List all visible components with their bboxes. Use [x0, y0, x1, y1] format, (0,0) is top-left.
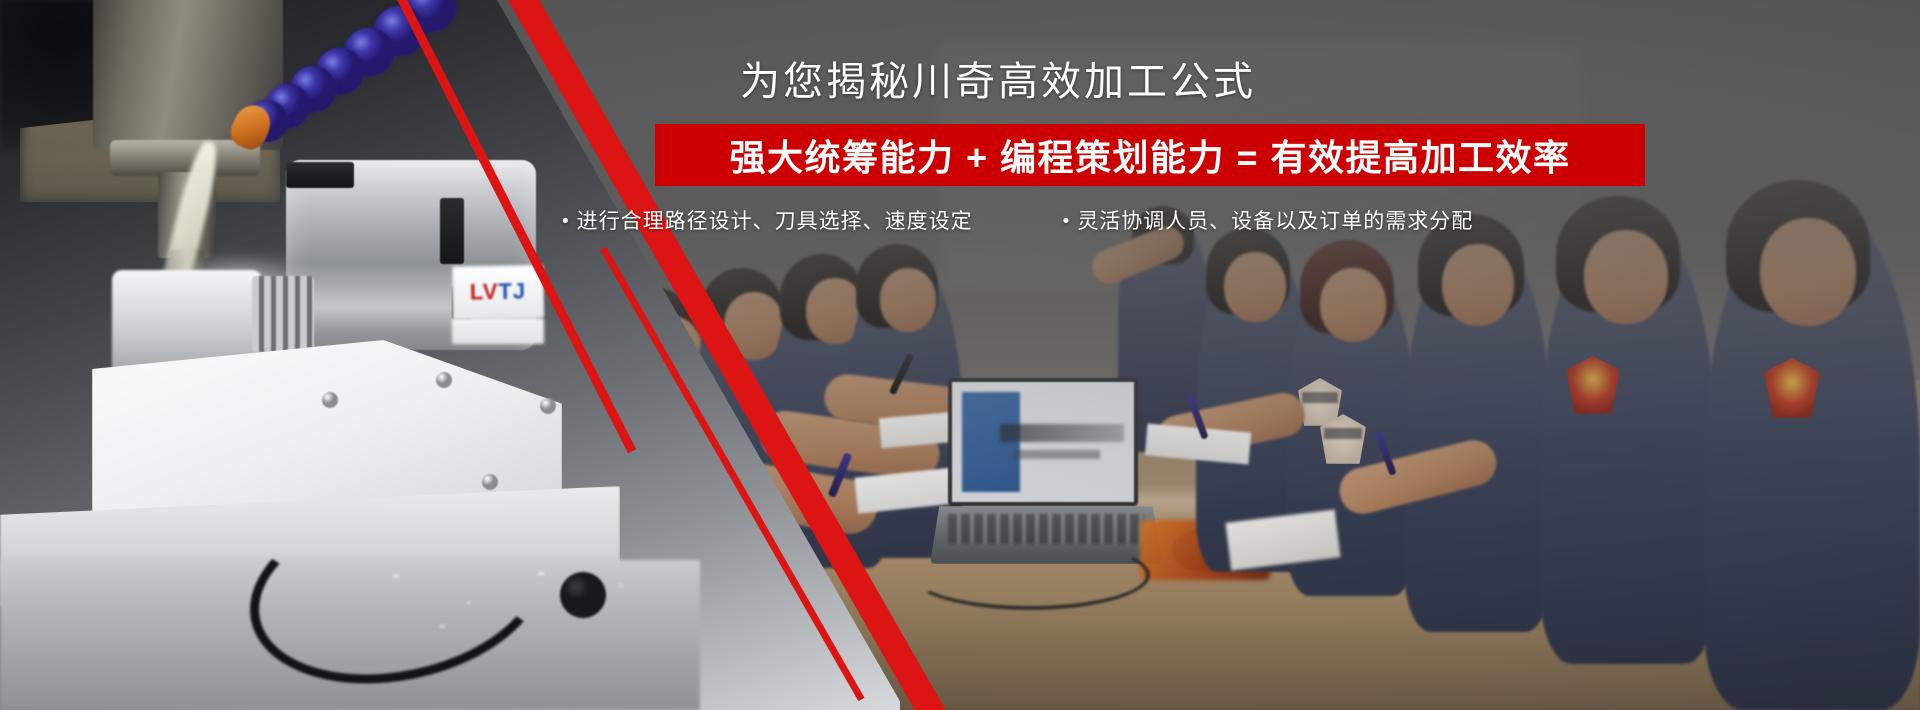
bullet-item-2: •灵活协调人员、设备以及订单的需求分配	[1063, 205, 1474, 235]
machine-brand-label: LVTJ	[452, 264, 545, 320]
formula-text: 强大统筹能力 + 编程策划能力 = 有效提高加工效率	[729, 129, 1570, 181]
machine-label-strip	[452, 318, 544, 344]
bullet-label: 进行合理路径设计、刀具选择、速度设定	[577, 210, 973, 233]
bullet-label: 灵活协调人员、设备以及订单的需求分配	[1077, 210, 1473, 233]
machine-knob	[560, 572, 606, 618]
machine-label-lv: LV	[470, 279, 499, 305]
housing-bolt	[482, 474, 498, 490]
banner-headline: 为您揭秘川奇高效加工公式	[740, 58, 1256, 106]
housing-bolt	[322, 392, 338, 408]
bullet-list: •进行合理路径设计、刀具选择、速度设定 •灵活协调人员、设备以及订单的需求分配	[655, 205, 1645, 235]
gear-teeth	[252, 276, 314, 352]
housing-bolt	[540, 398, 556, 414]
machine-label-tj: TJ	[498, 279, 526, 305]
bullet-item-1: •进行合理路径设计、刀具选择、速度设定	[562, 205, 973, 235]
bullet-marker-icon: •	[1063, 211, 1071, 232]
bullet-marker-icon: •	[562, 211, 570, 232]
promotional-banner: LVTJ 为您揭秘川奇高效加工公式 强大统筹能力 + 编程策划能力 = 有效提高…	[0, 0, 1920, 710]
housing-bolt	[436, 372, 452, 388]
formula-red-bar: 强大统筹能力 + 编程策划能力 = 有效提高加工效率	[655, 124, 1645, 186]
chuck-jaw	[286, 162, 354, 188]
chuck-jaw	[440, 198, 464, 264]
